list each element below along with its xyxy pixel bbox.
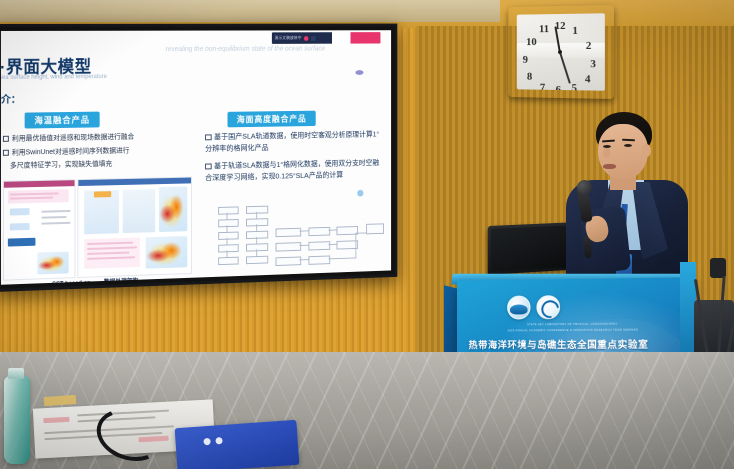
bottle-cap bbox=[8, 368, 24, 379]
figure-legend bbox=[94, 191, 111, 197]
left-bullet-3: 多尺度特征学习，实现缺失值填充 bbox=[10, 160, 112, 172]
clock-numeral-4: 4 bbox=[585, 73, 591, 85]
ceiling-panel bbox=[0, 0, 500, 22]
slide-section-label: 算法简介： bbox=[1, 91, 21, 107]
figure-panel-b bbox=[123, 189, 155, 233]
right-panel-pill: 海面高度融合产品 bbox=[228, 111, 316, 128]
left-panel-pill: 海温融合产品 bbox=[25, 112, 100, 129]
left-bullet-1: 利用最优插值对遥感和现场数据进行融合 bbox=[3, 133, 134, 145]
checkbox-icon bbox=[205, 134, 211, 140]
wall-clock: 12 1 2 3 4 5 6 7 8 9 10 11 bbox=[508, 5, 614, 99]
wave-swoosh bbox=[510, 304, 528, 314]
figure-box-a bbox=[10, 208, 30, 216]
presenter bbox=[546, 112, 706, 287]
clock-numeral-2: 2 bbox=[586, 40, 592, 52]
clock-numeral-5: 5 bbox=[571, 82, 576, 91]
left-bullet-2-text: 利用SwinUnet对遥感时间序列数据进行 bbox=[12, 148, 130, 157]
checkbox-icon bbox=[3, 150, 9, 156]
checkbox-icon bbox=[3, 136, 9, 142]
clock-center-pin bbox=[558, 50, 562, 54]
slide-subtitle-en2: revealing the non-equilibrium state of t… bbox=[166, 46, 326, 54]
right-bullet-2-text: 基于轨道SLA数据与1°格网化数据，使用双分支时空融合深度学习网络，实现0.12… bbox=[205, 158, 379, 182]
slide-accent-dot bbox=[357, 190, 363, 197]
laboratory-logo-icon bbox=[507, 296, 530, 320]
slide-accent-marker bbox=[355, 70, 363, 75]
slideshow-toolbar[interactable]: 演示文稿放映中 bbox=[272, 32, 381, 44]
figure-header bbox=[78, 178, 191, 186]
presenter-mouth bbox=[603, 164, 616, 169]
left-bullet-2: 利用SwinUnet对遥感时间序列数据进行 bbox=[3, 147, 129, 159]
clock-numeral-1: 1 bbox=[572, 25, 577, 37]
left-figure-card-1 bbox=[3, 179, 76, 281]
device-button-1[interactable] bbox=[203, 438, 210, 445]
device-button-2[interactable] bbox=[215, 437, 222, 444]
figure-box-b bbox=[10, 223, 30, 231]
clock-face: 12 1 2 3 4 5 6 7 8 9 10 11 bbox=[517, 13, 605, 90]
record-icon[interactable] bbox=[304, 36, 309, 41]
presentation-slide: 演示文稿放映中 海境·界面大模型 A Model for sea surface… bbox=[1, 30, 391, 285]
slideshow-title: 演示文稿放映中 bbox=[275, 35, 302, 41]
slide-subtitle-en: A Model for sea surface height, wind and… bbox=[1, 74, 107, 81]
tripod-head bbox=[710, 258, 726, 278]
clock-numeral-11: 11 bbox=[539, 23, 549, 35]
right-bullet-2: 基于轨道SLA数据与1°格网化数据，使用双分支时空融合深度学习网络，实现0.12… bbox=[205, 157, 380, 183]
monitor-icon[interactable] bbox=[312, 36, 317, 41]
left-figure-card-2 bbox=[77, 177, 192, 278]
clock-numeral-9: 9 bbox=[523, 54, 528, 66]
right-bullet-1: 基于国产SLA轨道数据，使用时空客观分析原理计算1°分辨率的格网化产品 bbox=[205, 129, 380, 155]
checkbox-icon bbox=[205, 163, 211, 169]
left-bullet-1-text: 利用最优插值对遥感和现场数据进行融合 bbox=[12, 134, 134, 143]
clock-numeral-7: 7 bbox=[540, 82, 545, 91]
blue-device[interactable] bbox=[175, 420, 300, 469]
institute-logo-icon bbox=[536, 295, 560, 319]
figure-header bbox=[4, 180, 75, 188]
right-bullet-1-text: 基于国产SLA轨道数据，使用时空客观分析原理计算1°分辨率的格网化产品 bbox=[205, 130, 379, 153]
clock-numeral-3: 3 bbox=[590, 58, 596, 70]
presentation-scene: 12 1 2 3 4 5 6 7 8 9 10 11 演示文稿放映中 海境·界面… bbox=[0, 0, 734, 469]
figure-box-c bbox=[8, 238, 36, 247]
right-flowchart bbox=[214, 201, 383, 273]
presenter-ear bbox=[642, 144, 651, 157]
clock-numeral-6: 6 bbox=[556, 84, 561, 91]
presenter-eye-right bbox=[624, 144, 632, 147]
clock-numeral-10: 10 bbox=[526, 36, 536, 48]
projection-screen: 演示文稿放映中 海境·界面大模型 A Model for sea surface… bbox=[0, 24, 397, 292]
podium-title-line-1: 热带海洋环境与岛礁生态全国重点实验室 bbox=[468, 337, 648, 352]
water-bottle bbox=[4, 376, 30, 464]
presenter-nose bbox=[603, 148, 610, 158]
clock-numeral-8: 8 bbox=[527, 71, 532, 83]
